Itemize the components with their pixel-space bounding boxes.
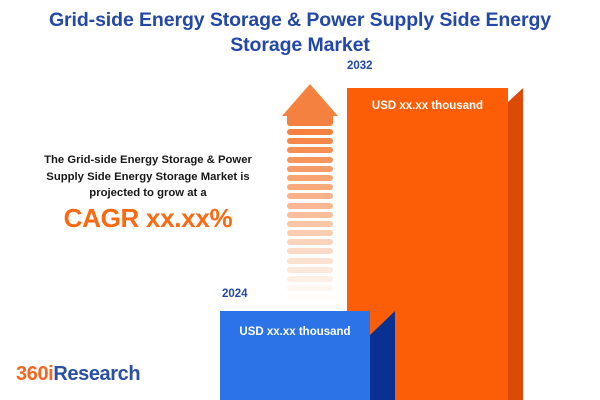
- bar-2032-side-face: [508, 88, 523, 400]
- arrow-stripe: [287, 157, 333, 163]
- bar-2024-value-label: USD xx.xx thousand: [220, 326, 370, 338]
- arrow-stripe: [287, 203, 333, 209]
- arrow-stripe: [287, 276, 333, 282]
- arrow-stripes: [287, 129, 333, 304]
- arrow-stripe: [287, 221, 333, 227]
- cagr-value: CAGR xx.xx%: [24, 203, 272, 234]
- arrow-head-icon: [282, 84, 338, 116]
- infographic-canvas: Grid-side Energy Storage & Power Supply …: [0, 0, 600, 400]
- brand-logo: 360iResearch: [16, 363, 140, 386]
- arrow-stripe: [287, 138, 333, 144]
- arrow-stripe: [287, 230, 333, 236]
- bar-2024-year-label: 2024: [222, 288, 302, 300]
- bar-2024-front-face: [220, 311, 370, 400]
- arrow-stripe: [287, 258, 333, 264]
- arrow-stripe: [287, 239, 333, 245]
- brand-logo-suffix: Research: [53, 363, 140, 385]
- arrow-stripe: [287, 193, 333, 199]
- arrow-stripe: [287, 267, 333, 273]
- arrow-stripe: [287, 166, 333, 172]
- bar-2032-year-label: 2032: [347, 60, 427, 72]
- arrow-stripe: [287, 129, 333, 135]
- page-title: Grid-side Energy Storage & Power Supply …: [12, 8, 588, 58]
- arrow-stripe: [287, 175, 333, 181]
- arrow-neck: [287, 114, 333, 126]
- market-statement: The Grid-side Energy Storage & Power Sup…: [24, 152, 272, 202]
- growth-arrow-icon: [282, 84, 338, 284]
- brand-logo-prefix: 360i: [16, 363, 53, 385]
- arrow-stripe: [287, 248, 333, 254]
- arrow-stripe: [287, 212, 333, 218]
- arrow-stripe: [287, 147, 333, 153]
- bar-2032-value-label: USD xx.xx thousand: [347, 100, 508, 112]
- arrow-stripe: [287, 184, 333, 190]
